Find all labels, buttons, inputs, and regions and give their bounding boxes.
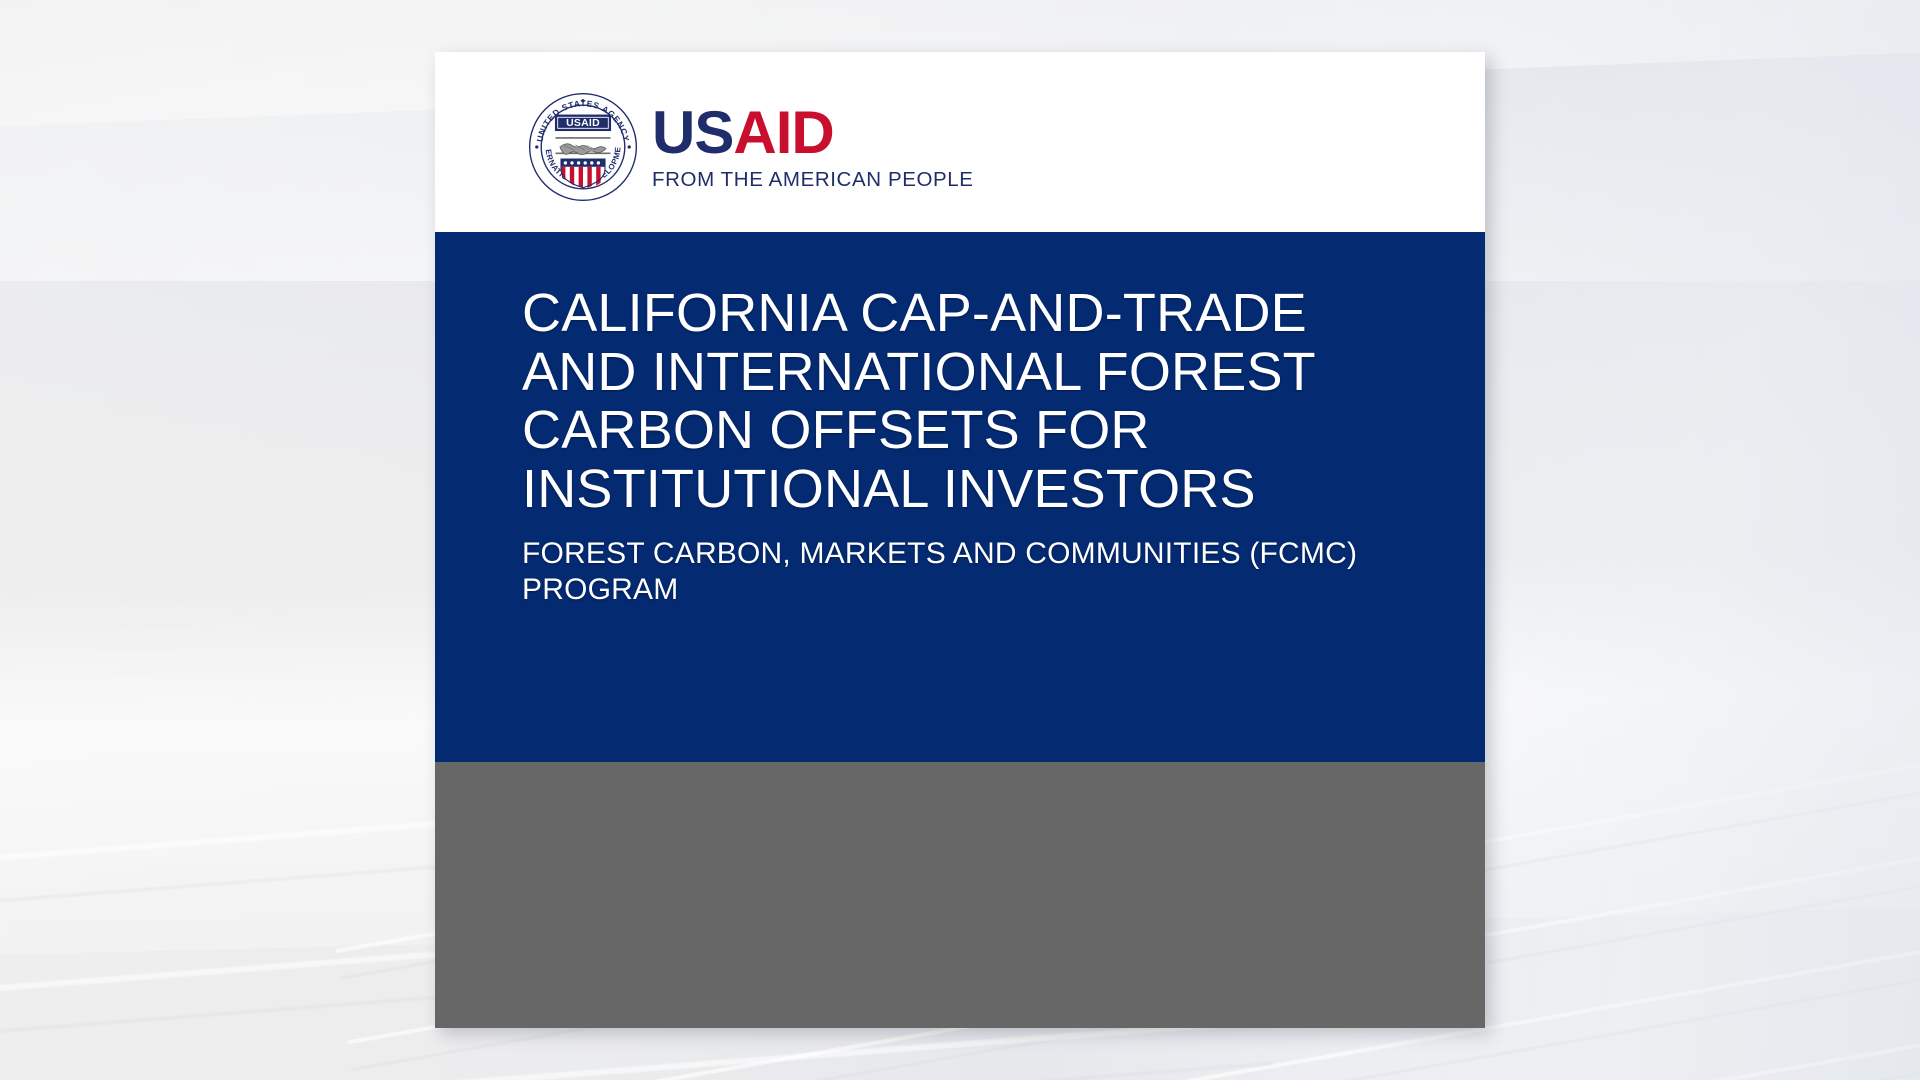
subtitle-line-2: PROGRAM — [522, 572, 1405, 607]
logo-header: UNITED STATES AGENCY INTERNATIONAL DEVEL… — [435, 52, 1485, 232]
usaid-logo: UNITED STATES AGENCY INTERNATIONAL DEVEL… — [528, 92, 974, 202]
title-line-2: AND INTERNATIONAL FOREST — [522, 343, 1405, 402]
document-title: CALIFORNIA CAP-AND-TRADE AND INTERNATION… — [522, 284, 1405, 518]
usaid-seal-icon: UNITED STATES AGENCY INTERNATIONAL DEVEL… — [528, 92, 638, 202]
document-cover-page[interactable]: UNITED STATES AGENCY INTERNATIONAL DEVEL… — [435, 52, 1485, 1028]
cover-photo-band — [435, 762, 1485, 1028]
wordmark-aid: AID — [733, 99, 833, 166]
usaid-wordmark-text: USAID — [652, 103, 974, 163]
usaid-tagline: FROM THE AMERICAN PEOPLE — [652, 170, 974, 191]
title-line-4: INSTITUTIONAL INVESTORS — [522, 460, 1405, 519]
title-line-1: CALIFORNIA CAP-AND-TRADE — [522, 284, 1405, 343]
wordmark-us: US — [652, 99, 733, 166]
title-band: CALIFORNIA CAP-AND-TRADE AND INTERNATION… — [435, 232, 1485, 762]
title-line-3: CARBON OFFSETS FOR — [522, 401, 1405, 460]
svg-text:USAID: USAID — [566, 118, 600, 129]
document-subtitle: FOREST CARBON, MARKETS AND COMMUNITIES (… — [522, 536, 1405, 607]
subtitle-line-1: FOREST CARBON, MARKETS AND COMMUNITIES (… — [522, 536, 1405, 571]
usaid-wordmark: USAID FROM THE AMERICAN PEOPLE — [652, 103, 974, 191]
